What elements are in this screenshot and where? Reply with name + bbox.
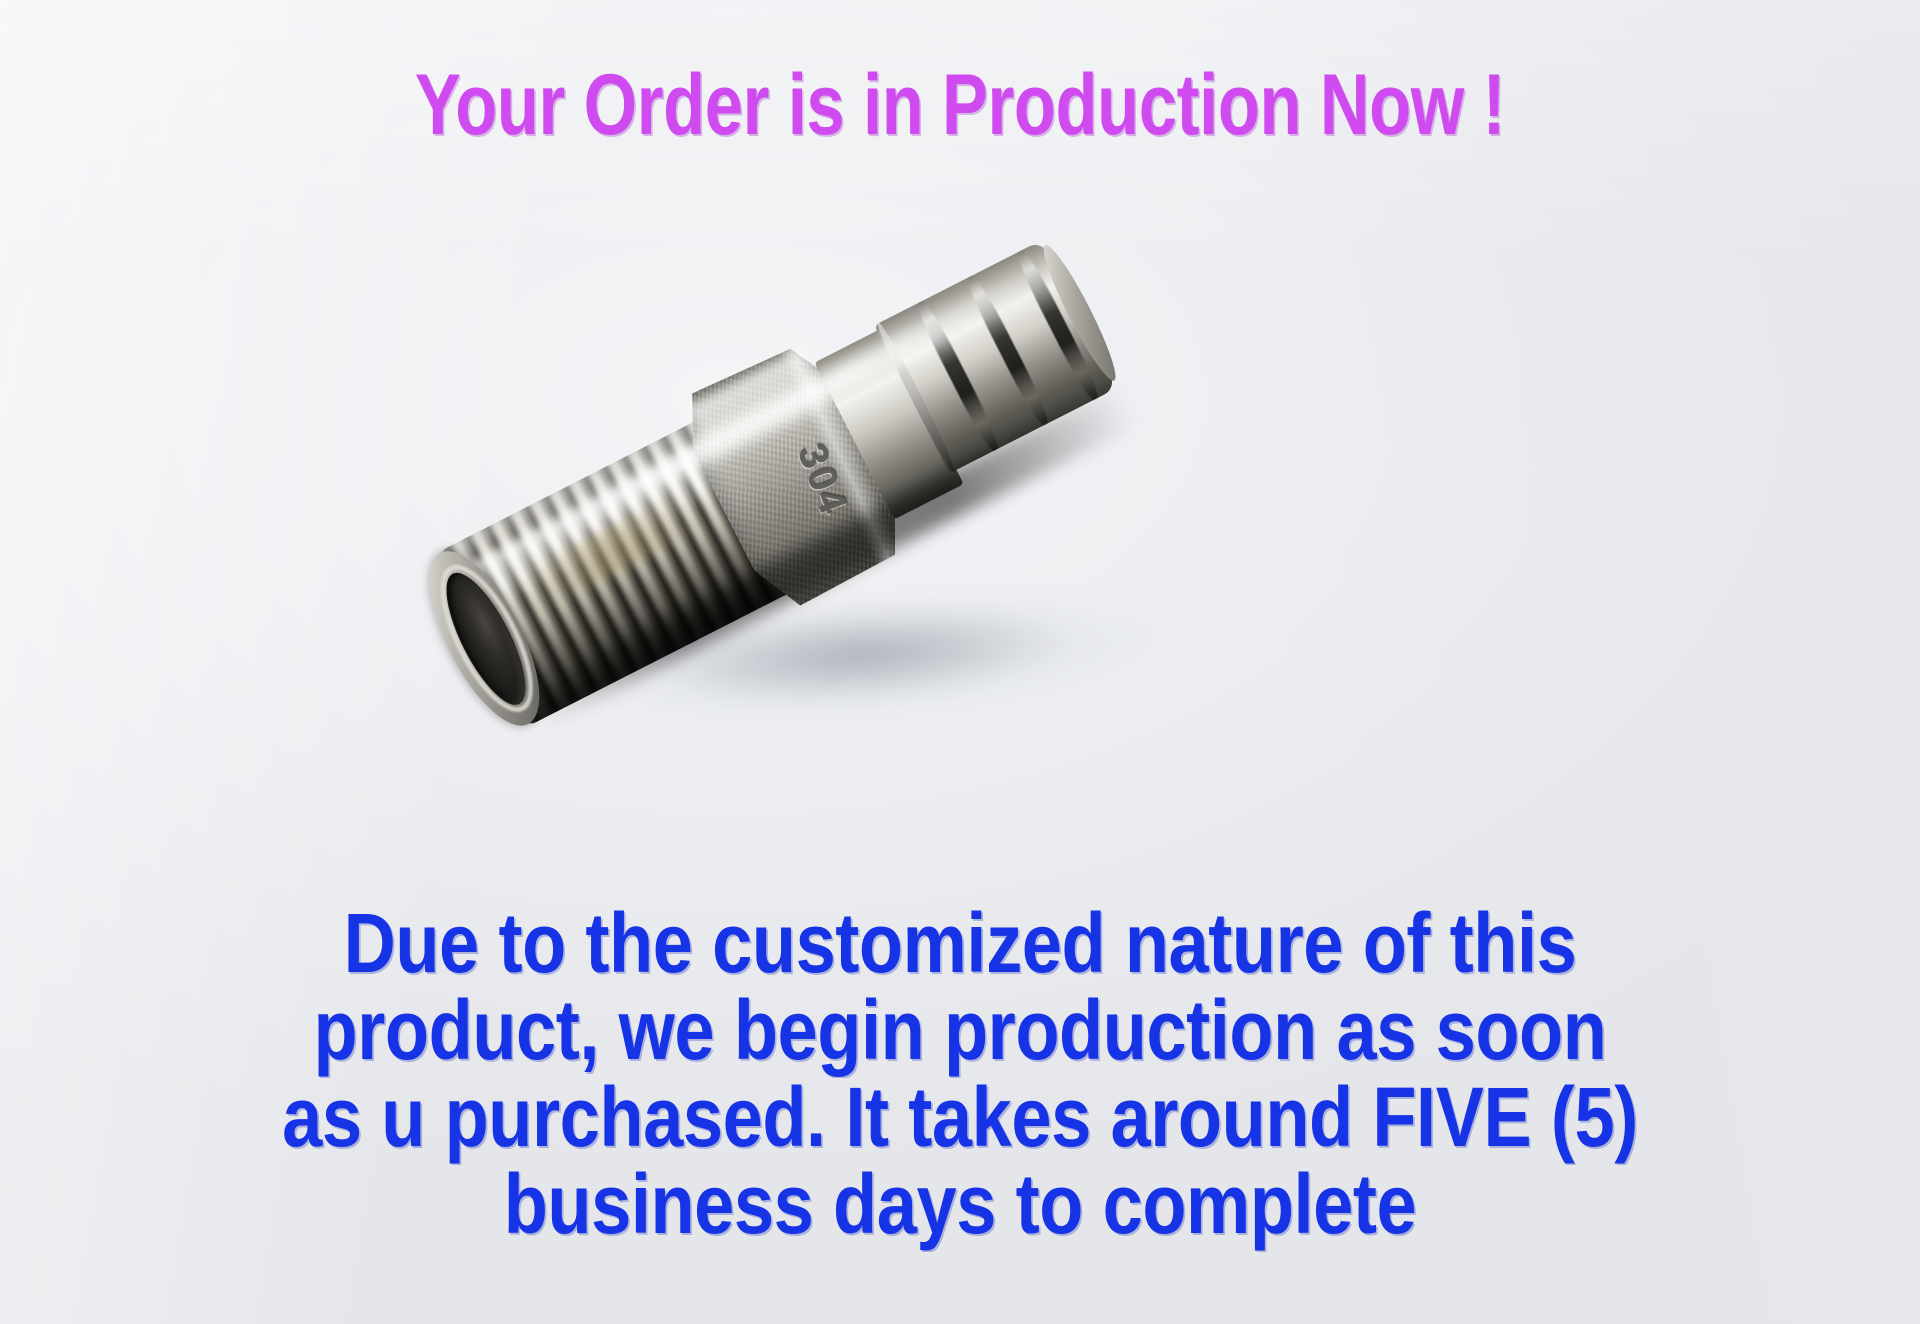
notice-line-3: as u purchased. It takes around FIVE (5)	[134, 1074, 1785, 1161]
notice-line-2: product, we begin production as soon	[134, 987, 1785, 1074]
notice-line-4: business days to complete	[134, 1161, 1785, 1248]
promo-banner: Your Order is in Production Now ! 304	[0, 0, 1920, 1324]
product-photo: 304	[430, 290, 1190, 760]
notice-line-1: Due to the customized nature of this	[134, 900, 1785, 987]
production-notice: Due to the customized nature of this pro…	[0, 900, 1920, 1248]
